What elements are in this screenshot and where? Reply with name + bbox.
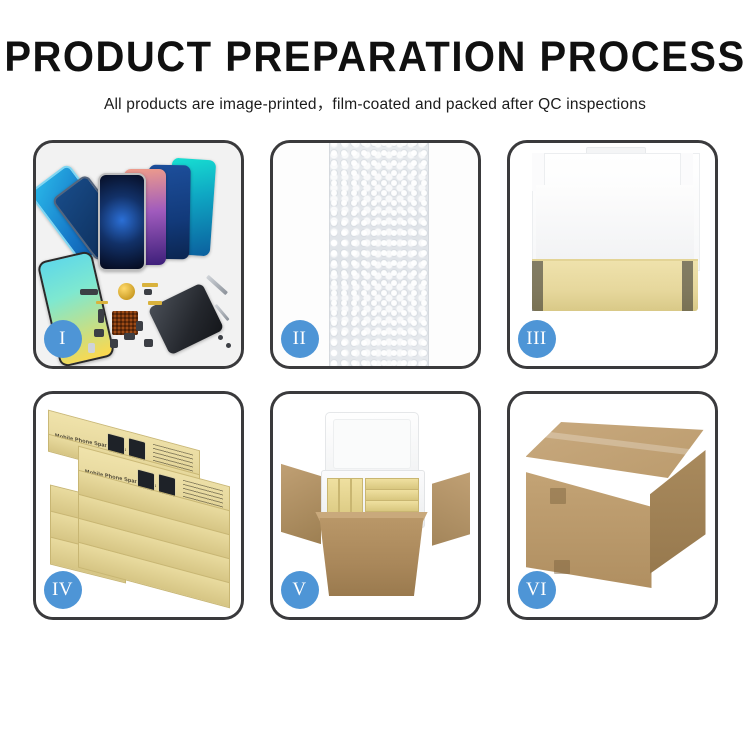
carton-flap-right [432, 472, 470, 546]
carton-tape-upper [550, 488, 566, 504]
bubble-wrap-bag [329, 143, 429, 366]
process-step-3[interactable]: III [507, 140, 718, 369]
page-title: PRODUCT PREPARATION PROCESS [0, 35, 750, 80]
step-badge-3: III [518, 320, 556, 358]
screw-part-1 [218, 335, 223, 340]
foam-box-lid-inner [333, 419, 411, 469]
flex-cable-2 [148, 301, 162, 305]
box-edge-left [532, 261, 543, 311]
box-base-kraft [532, 261, 698, 311]
chip-part-3 [98, 309, 104, 323]
phone-black-screen [98, 173, 146, 271]
chip-part-9 [88, 343, 95, 353]
process-step-4[interactable]: Mobile Phone Spare Parts Mobile Phone Sp… [33, 391, 244, 620]
chip-part-4 [94, 329, 104, 337]
flex-cable-1 [142, 283, 158, 287]
chip-part-6 [124, 333, 135, 340]
step-badge-6: VI [518, 571, 556, 609]
process-step-1[interactable]: I [33, 140, 244, 369]
contact-grid-icon [112, 311, 138, 335]
flex-cable-3 [96, 301, 108, 304]
chip-part-1 [80, 289, 98, 295]
screw-part-2 [226, 343, 231, 348]
chip-part-8 [144, 339, 153, 347]
speaker-module-icon [118, 283, 135, 300]
step-badge-1: I [44, 320, 82, 358]
process-step-5[interactable]: V [270, 391, 481, 620]
chip-part-7 [136, 321, 143, 331]
process-step-2[interactable]: II [270, 140, 481, 369]
carton-flap-left [281, 464, 321, 544]
process-step-grid: I II [0, 140, 750, 620]
step-badge-4: IV [44, 571, 82, 609]
step-badge-5: V [281, 571, 319, 609]
page-subtitle: All products are image-printed，film-coat… [0, 92, 750, 114]
chip-part-5 [110, 339, 118, 348]
carton-tape-lower [554, 560, 570, 574]
step-badge-2: II [281, 320, 319, 358]
chip-part-2 [144, 289, 152, 295]
carton-body [313, 518, 431, 596]
process-step-6[interactable]: VI [507, 391, 718, 620]
box-edge-right [682, 261, 693, 311]
page-header: PRODUCT PREPARATION PROCESS All products… [0, 0, 750, 114]
